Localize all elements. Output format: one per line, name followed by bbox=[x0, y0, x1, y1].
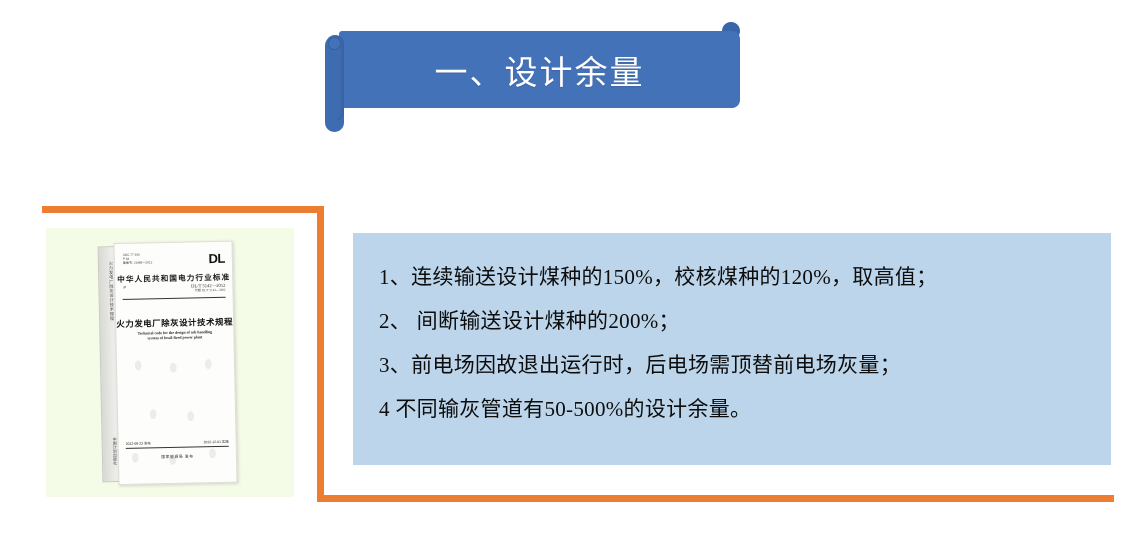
standard-book: 火力发电厂除灰设计技术规程 中国计划出版社 UDC 77-106 P 33 备案… bbox=[97, 241, 237, 486]
book-spine-publisher: 中国计划出版社 bbox=[106, 437, 119, 465]
book-codes: UDC 77-106 P 33 备案号: J1485—2012 bbox=[123, 253, 153, 265]
book-class-mark: P bbox=[123, 285, 126, 290]
book-subtitle-en: Technical code for the design of ash han… bbox=[126, 330, 223, 342]
content-line-3: 3、前电场因故退出运行时，后电场需顶替前电场灰量； bbox=[379, 343, 1085, 387]
book-standard-number: DL/T 5142—2012 代替 DL/T 5142—2002 bbox=[191, 283, 225, 295]
title-banner: 一、设计余量 bbox=[325, 22, 740, 132]
content-panel: 1、连续输送设计煤种的150%，校核煤种的120%，取高值； 2、 间断输送设计… bbox=[353, 233, 1111, 465]
page-title: 一、设计余量 bbox=[435, 46, 645, 94]
book-cover-image: 火力发电厂除灰设计技术规程 中国计划出版社 UDC 77-106 P 33 备案… bbox=[46, 228, 294, 497]
content-line-1: 1、连续输送设计煤种的150%，校核煤种的120%，取高值； bbox=[379, 255, 1085, 299]
orange-frame-top-edge bbox=[42, 206, 324, 213]
content-line-2: 2、 间断输送设计煤种的200%； bbox=[379, 299, 1085, 343]
content-line-4: 4 不同输灰管道有50-500%的设计余量。 bbox=[379, 387, 1085, 431]
book-divider-top bbox=[123, 297, 226, 300]
book-title: 火力发电厂除灰设计技术规程 bbox=[116, 316, 233, 330]
book-watermark-pattern bbox=[117, 338, 237, 484]
book-standard-number-sub: 代替 DL/T 5142—2002 bbox=[191, 288, 225, 294]
orange-frame-bottom-edge bbox=[317, 495, 1114, 502]
dl-logo-icon: DL bbox=[208, 251, 225, 266]
book-effective-date: 2012-12-01 实施 bbox=[204, 439, 229, 445]
orange-frame-right-edge bbox=[317, 206, 324, 495]
banner-body: 一、设计余量 bbox=[339, 31, 740, 108]
scroll-roll-cap-icon bbox=[328, 37, 341, 50]
book-front-face: UDC 77-106 P 33 备案号: J1485—2012 DL 中华人民共… bbox=[113, 241, 237, 485]
book-spine-title: 火力发电厂除灰设计技术规程 bbox=[101, 261, 115, 321]
book-issue-date: 2012-08-23 发布 bbox=[126, 440, 151, 446]
